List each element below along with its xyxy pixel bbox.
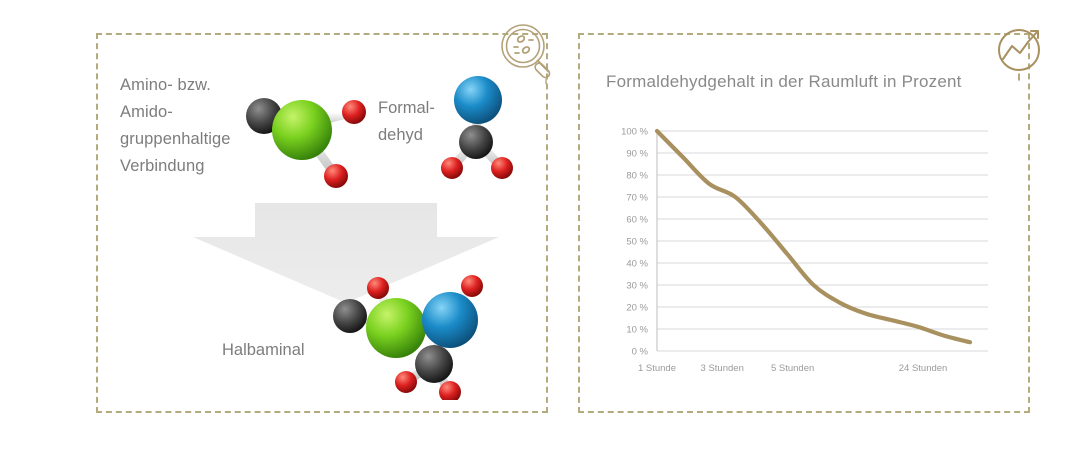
hemiaminal-label: Halbaminal xyxy=(222,338,305,362)
magnifier-molecules-icon xyxy=(498,22,560,84)
chart-y-tick-label: 30 % xyxy=(626,280,648,291)
page-root: Amino- bzw. Amido- gruppenhaltige Verbin… xyxy=(0,0,1080,462)
chart-y-tick-label: 10 % xyxy=(626,324,648,335)
amino-compound-molecule xyxy=(238,74,374,194)
chart-y-tick-label: 90 % xyxy=(626,148,648,159)
chart-y-tick-label: 70 % xyxy=(626,192,648,203)
chart-x-tick-label: 3 Stunden xyxy=(701,363,744,374)
chart-y-tick-label: 100 % xyxy=(621,126,648,137)
chart-y-tick-label: 0 % xyxy=(632,346,649,357)
chart-x-tick-label: 1 Stunde xyxy=(638,363,676,374)
chart-y-tick-label: 50 % xyxy=(626,236,648,247)
chart-y-tick-label: 60 % xyxy=(626,214,648,225)
chart-x-tick-label: 24 Stunden xyxy=(899,363,948,374)
trend-line-circle-icon xyxy=(992,22,1054,84)
chart-y-tick-label: 40 % xyxy=(626,258,648,269)
chart-y-axis-labels: 100 %90 %80 %70 %60 %50 %40 %30 %20 %10 … xyxy=(621,126,648,357)
formaldehyde-decay-chart: 100 %90 %80 %70 %60 %50 %40 %30 %20 %10 … xyxy=(600,120,1000,385)
chart-x-axis-labels: 1 Stunde3 Stunden5 Stunden24 Stunden xyxy=(638,363,947,374)
hemiaminal-molecule xyxy=(326,268,506,400)
formaldehyde-molecule xyxy=(432,68,524,188)
chart-title: Formaldehydgehalt in der Raumluft in Pro… xyxy=(606,72,962,92)
chart-gridlines xyxy=(657,131,988,351)
chart-y-tick-label: 20 % xyxy=(626,302,648,313)
chart-series-line xyxy=(657,131,970,342)
chart-x-tick-label: 5 Stunden xyxy=(771,363,814,374)
chart-y-tick-label: 80 % xyxy=(626,170,648,181)
